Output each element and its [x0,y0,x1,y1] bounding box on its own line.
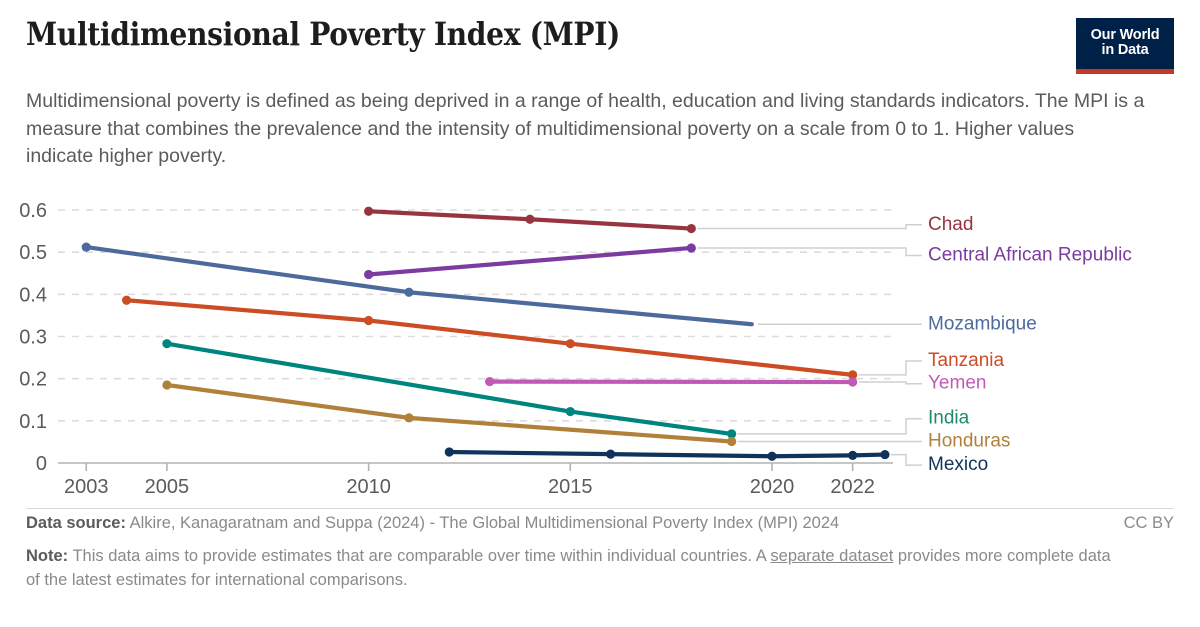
data-point[interactable] [687,224,696,233]
series-label-3[interactable]: Tanzania [928,350,1004,371]
data-source-text: Alkire, Kanagaratnam and Suppa (2024) - … [126,514,839,532]
data-source-line: Data source: Alkire, Kanagaratnam and Su… [26,512,1174,537]
x-axis-tick-label: 2003 [64,476,109,498]
data-point[interactable] [566,339,575,348]
series-label-5[interactable]: India [928,408,970,429]
data-point[interactable] [767,452,776,461]
data-point[interactable] [162,339,171,348]
series-label-2[interactable]: Mozambique [928,313,1037,334]
license-label[interactable]: CC BY [1124,512,1174,534]
note-line: Note: This data aims to provide estimate… [26,545,1126,593]
data-point[interactable] [162,380,171,389]
y-axis-tick-label: 0.1 [19,411,47,433]
legend-connector [891,455,922,466]
page-title: Multidimensional Poverty Index (MPI) [26,18,1036,52]
data-point[interactable] [364,316,373,325]
series-labels[interactable]: ChadCentral African RepublicMozambiqueTa… [928,214,1132,475]
data-point[interactable] [880,450,889,459]
axis-lines [58,463,893,471]
series-label-7[interactable]: Mexico [928,454,988,475]
logo-line-1: Our World [1091,28,1160,43]
note-text-1: This data aims to provide estimates that… [68,547,770,565]
chart-page: Multidimensional Poverty Index (MPI) Our… [0,0,1200,627]
legend-connectors [697,225,922,465]
line-chart[interactable]: 00.10.20.30.40.50.6 20032005201020152020… [0,190,1200,505]
data-point[interactable] [606,450,615,459]
data-point[interactable] [404,288,413,297]
data-point[interactable] [82,243,91,252]
data-point[interactable] [525,215,534,224]
series-label-6[interactable]: Honduras [928,431,1010,452]
data-point[interactable] [848,377,857,386]
logo-line-2: in Data [1102,43,1149,58]
data-point[interactable] [566,407,575,416]
note-label: Note: [26,547,68,565]
series-line-3[interactable] [127,300,853,375]
data-point[interactable] [485,377,494,386]
x-axis-tick-labels: 200320052010201520202022 [64,476,875,498]
y-axis-tick-label: 0.6 [19,200,47,222]
data-point[interactable] [848,451,857,460]
y-axis-tick-label: 0.3 [19,327,47,349]
x-axis-tick-label: 2015 [548,476,593,498]
y-axis-tick-label: 0.4 [19,284,47,306]
footer-divider [26,508,1174,509]
x-axis-tick-label: 2005 [145,476,190,498]
chart-subtitle: Multidimensional poverty is defined as b… [26,88,1146,171]
data-source-label: Data source: [26,514,126,532]
y-axis-tick-label: 0.5 [19,242,47,264]
data-point[interactable] [404,413,413,422]
chart-area: 00.10.20.30.40.50.6 20032005201020152020… [0,190,1200,505]
series-line-1[interactable] [369,248,692,275]
separate-dataset-link[interactable]: separate dataset [770,547,893,565]
y-axis-tick-label: 0.2 [19,369,47,391]
chart-header: Multidimensional Poverty Index (MPI) Our… [26,18,1174,88]
data-point[interactable] [364,270,373,279]
data-point[interactable] [122,296,131,305]
y-axis-tick-label: 0 [36,453,47,475]
series-label-4[interactable]: Yemen [928,373,986,394]
series-line-6[interactable] [167,385,732,442]
data-point[interactable] [727,437,736,446]
legend-connector [697,225,922,229]
x-axis-tick-label: 2010 [346,476,391,498]
series-label-1[interactable]: Central African Republic [928,245,1132,266]
series-label-0[interactable]: Chad [928,214,973,235]
x-axis-tick-label: 2020 [750,476,795,498]
owid-logo[interactable]: Our World in Data [1076,18,1174,74]
legend-connector [859,382,922,384]
chart-footer: Data source: Alkire, Kanagaratnam and Su… [26,512,1174,593]
data-point[interactable] [687,243,696,252]
y-axis-tick-labels: 00.10.20.30.40.50.6 [19,200,47,475]
series-line-7[interactable] [449,452,885,456]
x-axis-tick-label: 2022 [830,476,875,498]
data-point[interactable] [364,207,373,216]
data-point[interactable] [445,447,454,456]
series-line-2[interactable] [86,247,752,324]
legend-connector [859,361,922,375]
